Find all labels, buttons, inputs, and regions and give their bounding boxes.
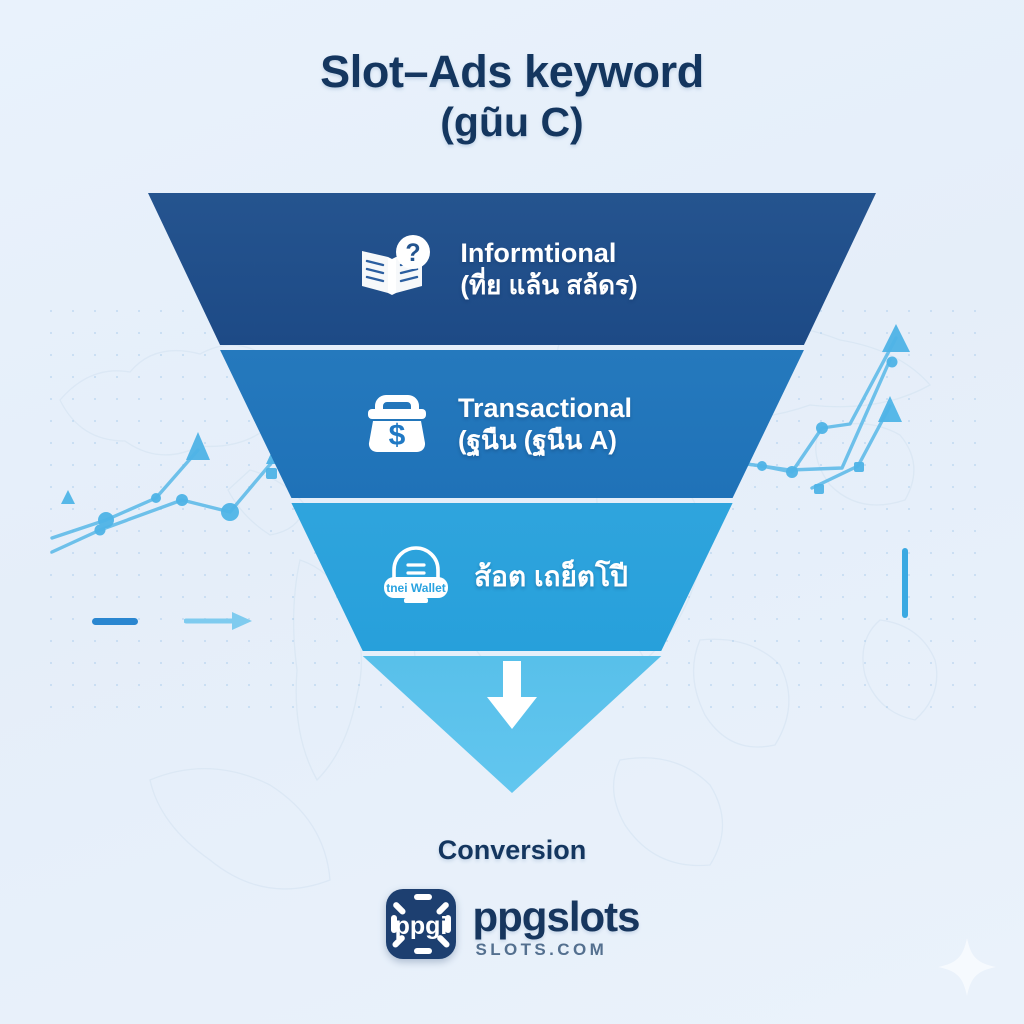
funnel-stage-text: Transactional (ฐนืน (ฐนืน A) (458, 392, 632, 457)
title-line-2: (gũu C) (0, 98, 1024, 147)
book-question-icon: ? (358, 235, 432, 304)
decorative-bar-right (902, 548, 908, 618)
stage-title: ส้อต เถย็ตโปี (474, 560, 628, 594)
funnel-stage-text: Informtional (ที่ย แล้น สล้ดร) (460, 237, 637, 302)
funnel-stage-informational[interactable]: ? Informtional (ที่ย แล้น สล้ดร) (148, 193, 876, 345)
brand-logo[interactable]: ppgi ppgslots SLOTS.COM (0, 888, 1024, 965)
stage-subtitle: (ฐนืน (ฐนืน A) (458, 425, 632, 457)
decorative-bar-left (92, 618, 138, 625)
money-bag-icon: $ (364, 391, 430, 458)
stage-title: Transactional (458, 392, 632, 425)
stage-title: Informtional (460, 237, 637, 270)
page-title: Slot–Ads keyword (gũu C) (0, 46, 1024, 147)
wallet-icon: tnei Wallet (380, 544, 452, 611)
funnel-stage-text: ส้อต เถย็ตโปี (474, 560, 628, 594)
funnel-stage-wallet[interactable]: tnei Wallet ส้อต เถย็ตโปี (148, 503, 876, 651)
stage-subtitle: (ที่ย แล้น สล้ดร) (460, 270, 637, 302)
wallet-icon-label: tnei Wallet (386, 581, 446, 595)
conversion-funnel: ? Informtional (ที่ย แล้น สล้ดร) (148, 193, 876, 793)
svg-text:?: ? (406, 239, 421, 267)
ppgi-badge-text: ppgi (394, 912, 447, 940)
funnel-stage-conversion[interactable] (148, 656, 876, 793)
logo-wordmark: ppgslots SLOTS.COM (473, 896, 640, 958)
logo-domain: SLOTS.COM (473, 941, 640, 958)
infographic-canvas: Slot–Ads keyword (gũu C) (0, 0, 1024, 1024)
down-arrow-icon (483, 657, 541, 740)
title-line-1: Slot–Ads keyword (0, 46, 1024, 98)
ppgi-badge-icon: ppgi (385, 888, 457, 965)
conversion-label: Conversion (0, 835, 1024, 866)
svg-text:$: $ (389, 419, 406, 452)
funnel-stage-transactional[interactable]: $ Transactional (ฐนืน (ฐนืน A) (148, 350, 876, 498)
logo-name: ppgslots (473, 896, 640, 938)
